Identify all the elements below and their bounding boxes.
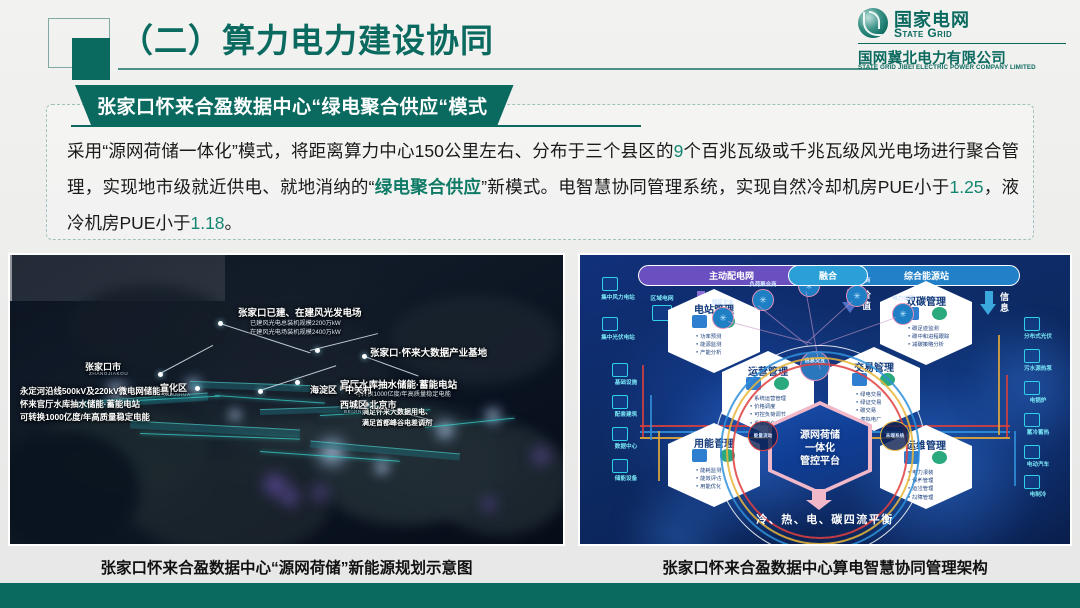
map-node-dot-3 [158, 372, 163, 377]
purple-zone-4 [480, 495, 498, 513]
body-text-segment-3: 绿电聚合供应 [375, 177, 482, 197]
purple-zone-2 [310, 483, 330, 503]
hex-icon-b-3 [932, 307, 947, 320]
map-node-dot-0 [218, 321, 223, 326]
topbar-segment-mid[interactable]: 融合 [788, 265, 868, 286]
right-asset-label-1: 污水源热泵 [1006, 364, 1070, 372]
map-label-demand-1: 满足首都峰谷电差调剂 [362, 418, 432, 428]
caption-left: 张家口怀来合盈数据中心“源网荷储”新能源规划示意图 [8, 556, 565, 578]
map-city-label-en-1: XUANHUA [164, 392, 191, 397]
map-callout-line-1: 永定河沿线500kV及220kV微电网储能调； [20, 385, 177, 397]
actor-label-3: 园区企业 [700, 298, 746, 306]
actor-label-0: 负荷聚合商 [740, 280, 786, 288]
city-light-glow-2 [310, 430, 354, 474]
body-text-segment-8: 。 [225, 213, 243, 233]
map-node-dot-2 [362, 354, 367, 359]
actor-circle-3[interactable]: ✳ [712, 307, 734, 329]
actor-connector-2 [806, 301, 853, 344]
map-callout-line-3: 可转换1000亿度/年高质量稳定电能 [20, 411, 150, 423]
logo-divider [858, 43, 1066, 44]
map-label-wind-solar-sub-0: 已建风光电总装机规模2200万kW [250, 318, 341, 327]
footer-bar [0, 583, 1080, 608]
asset-icon-2[interactable] [612, 427, 628, 441]
source-icon-1[interactable] [602, 317, 618, 331]
center-platform-line-2: 管控平台 [800, 455, 840, 468]
terrain-patch-4 [390, 295, 560, 385]
hex-icon-b-5 [932, 451, 947, 464]
map-callout-line-2: 怀来官厅水库抽水储能·蓄能电站 [20, 398, 140, 410]
hex-item-0-2: 产能分析 [694, 349, 756, 357]
source-icon-0[interactable] [602, 277, 618, 291]
asset-icon-3[interactable] [612, 459, 628, 473]
feeder-line-5 [1014, 431, 1016, 486]
city-light-glow-5 [225, 405, 245, 425]
hex-item-0-1: 能源监测 [694, 341, 756, 349]
hex-icon-a-2 [692, 449, 707, 462]
feeder-line-3 [998, 335, 1000, 435]
caption-right: 张家口怀来合盈数据中心算电智慧协同管理架构 [578, 556, 1072, 578]
right-asset-icon-2[interactable] [1024, 381, 1040, 395]
body-text-segment-4: ”新模式。电智慧协同管理系统，实现自然冷却机房PUE小于 [481, 177, 949, 197]
body-text-segment-1: 9 [674, 141, 684, 161]
architecture-diagram-panel: 主动配电网综合能源站融合能量价值信息集中风力电站集中光伏电站区域电网基础设施配套… [578, 253, 1072, 546]
state-grid-emblem-icon [858, 8, 888, 38]
map-label-bigdata-base: 张家口·怀来大数据产业基地 [370, 345, 487, 359]
satellite-map-panel: 张家口已建、在建风光发电场已建风光电总装机规模2200万kW在建风光电场装机规模… [8, 253, 565, 546]
diagram-canvas: 主动配电网综合能源站融合能量价值信息集中风力电站集中光伏电站区域电网基础设施配套… [580, 255, 1070, 544]
asset-icon-1[interactable] [612, 395, 628, 409]
map-label-wind-solar-sub-1: 在建风光电场装机规模2400万kW [250, 327, 341, 336]
page-title: （二）算力电力建设协同 [120, 14, 494, 62]
right-asset-label-0: 分布式光伏 [1006, 332, 1070, 340]
city-light-glow-4 [480, 403, 506, 429]
source-label-1: 集中光伏电站 [588, 333, 648, 341]
decorative-square-solid [72, 38, 110, 80]
flow-arrow-stem [985, 291, 993, 305]
asset-label-3: 储能设备 [594, 474, 658, 482]
center-platform-line-1: 一体化 [800, 442, 840, 455]
asset-label-0: 基础设施 [594, 378, 658, 386]
map-city-label-2: 海淀区 · 中关村 [310, 383, 372, 396]
feeder-line-4 [1006, 375, 1008, 437]
purple-zone-3 [530, 445, 552, 467]
body-text-segment-7: 1.18 [190, 213, 224, 233]
right-asset-label-2: 电锅炉 [1006, 396, 1070, 404]
highlight-callout-box: 张家口怀来合盈数据中心“绿电聚合供应“模式 采用“源网荷储一体化”模式，将距离算… [46, 104, 1034, 240]
body-text-segment-0: 采用“源网荷储一体化”模式，将距离算力中心150公里左右、分布于三个县区的 [67, 141, 674, 161]
actor-circle-0[interactable]: ✳ [752, 289, 774, 311]
feeder-line-1 [650, 395, 652, 440]
right-asset-icon-3[interactable] [1024, 413, 1040, 427]
page-header: （二）算力电力建设协同 国家电网 State Grid 国网冀北电力有限公司 S… [0, 0, 1080, 78]
right-asset-icon-4[interactable] [1024, 445, 1040, 459]
logo-subsidiary-en: STATE GRID JIBEI ELECTRIC POWER COMPANY … [858, 64, 1036, 71]
city-light-glow-3 [430, 415, 460, 445]
header-divider [118, 68, 878, 70]
actor-circle-4[interactable]: ✳ [892, 303, 914, 325]
right-asset-label-5: 电制冷 [1006, 490, 1070, 498]
center-down-arrow-head [806, 500, 832, 510]
map-node-dot-7 [295, 380, 300, 385]
side-node-0[interactable]: 能量流动 [748, 421, 778, 451]
side-node-1[interactable]: 末端系统 [880, 421, 910, 451]
center-platform-label: 源网荷储一体化管控平台 [800, 429, 840, 468]
feeder-line-2 [658, 431, 660, 481]
logo-company-en: State Grid [894, 26, 952, 40]
asset-icon-0[interactable] [612, 363, 628, 377]
right-asset-icon-5[interactable] [1024, 475, 1040, 489]
hex-icon-a-0 [692, 315, 707, 328]
source-label-0: 集中风力电站 [588, 293, 648, 301]
callout-banner-title: 张家口怀来合盈数据中心“绿电聚合供应“模式 [75, 85, 514, 125]
topbar-wrapper: 主动配电网综合能源站融合 [638, 265, 1020, 286]
right-asset-icon-1[interactable] [1024, 349, 1040, 363]
flow-arrow-head [980, 304, 996, 315]
flow-label-2: 信息 [999, 292, 1010, 314]
hex-item-3-2: 减碳策略分析 [906, 341, 968, 349]
map-label-wind-solar-title: 张家口已建、在建风光发电场 [238, 305, 362, 319]
right-asset-icon-0[interactable] [1024, 317, 1040, 331]
hex-items-0: 功率预测能源监测产能分析 [694, 333, 756, 358]
asset-label-1: 配套建筑 [594, 410, 658, 418]
banner-underline [71, 125, 641, 127]
map-city-label-en-0: ZHANGJIAKOU [89, 371, 128, 376]
feeder-line-0 [642, 365, 644, 437]
balance-text: 冷、热、电、碳四流平衡 [580, 511, 1070, 527]
terrain-patch-3 [70, 285, 230, 365]
callout-body-text: 采用“源网荷储一体化”模式，将距离算力中心150公里左右、分布于三个县区的9个百… [67, 133, 1019, 241]
hex-items-3: 碳足迹监测碳中和进程跟踪减碳策略分析 [906, 325, 968, 350]
asset-label-2: 数据中心 [594, 442, 658, 450]
purple-zone-1 [278, 485, 302, 509]
map-node-dot-6 [195, 386, 200, 391]
satellite-imagery: 张家口已建、在建风光发电场已建风光电总装机规模2200万kW在建风光电场装机规模… [10, 255, 563, 544]
map-node-dot-1 [315, 348, 320, 353]
hex-item-3-1: 碳中和进程跟踪 [906, 333, 968, 341]
flow-arrow-2 [980, 291, 997, 317]
body-text-segment-5: 1.25 [949, 177, 983, 197]
map-node-dot-5 [258, 389, 263, 394]
hex-item-3-0: 碳足迹监测 [906, 325, 968, 333]
state-grid-logo: 国家电网 State Grid 国网冀北电力有限公司 STATE GRID JI… [858, 6, 1068, 72]
map-city-label-en-3: BEIJING [344, 409, 366, 414]
actor-label-4: 电力公司 [880, 294, 926, 302]
hex-item-0-0: 功率预测 [694, 333, 756, 341]
center-platform-line-0: 源网荷储 [800, 429, 840, 442]
